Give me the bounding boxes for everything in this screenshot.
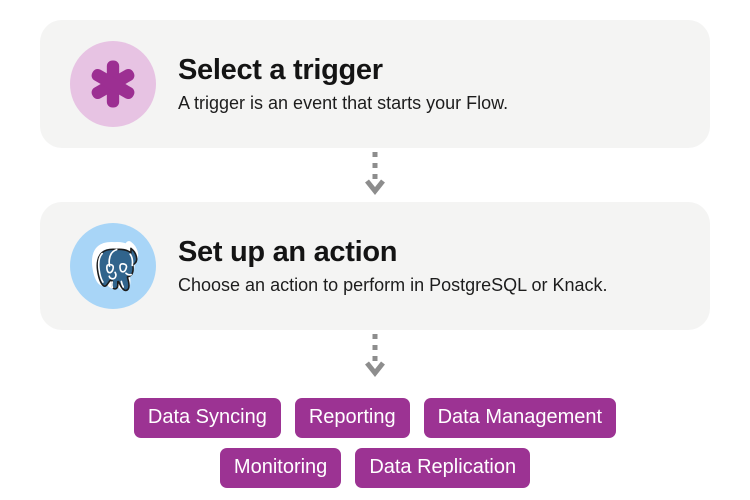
- step-title: Set up an action: [178, 235, 608, 269]
- step-subtitle: Choose an action to perform in PostgreSQ…: [178, 274, 608, 297]
- postgresql-elephant-icon: [70, 223, 156, 309]
- step-title: Select a trigger: [178, 53, 508, 87]
- dotted-arrow-down-icon: [362, 332, 388, 378]
- step-card-trigger-text: Select a trigger A trigger is an event t…: [178, 53, 508, 116]
- connector-action-to-tags: [0, 332, 750, 378]
- step-subtitle: A trigger is an event that starts your F…: [178, 92, 508, 115]
- step-card-action-text: Set up an action Choose an action to per…: [178, 235, 608, 298]
- category-tag[interactable]: Data Replication: [355, 448, 530, 488]
- step-card-action[interactable]: Set up an action Choose an action to per…: [40, 202, 710, 330]
- connector-trigger-to-action: [0, 150, 750, 196]
- category-tag[interactable]: Data Management: [424, 398, 617, 438]
- category-tag[interactable]: Data Syncing: [134, 398, 281, 438]
- flow-builder-canvas: Select a trigger A trigger is an event t…: [0, 0, 750, 500]
- category-tag[interactable]: Monitoring: [220, 448, 341, 488]
- category-tag-row: Monitoring Data Replication: [0, 448, 750, 488]
- category-tag[interactable]: Reporting: [295, 398, 410, 438]
- category-tag-list: Data Syncing Reporting Data Management M…: [0, 398, 750, 488]
- dotted-arrow-down-icon: [362, 150, 388, 196]
- category-tag-row: Data Syncing Reporting Data Management: [0, 398, 750, 438]
- asterisk-icon: [70, 41, 156, 127]
- step-card-trigger[interactable]: Select a trigger A trigger is an event t…: [40, 20, 710, 148]
